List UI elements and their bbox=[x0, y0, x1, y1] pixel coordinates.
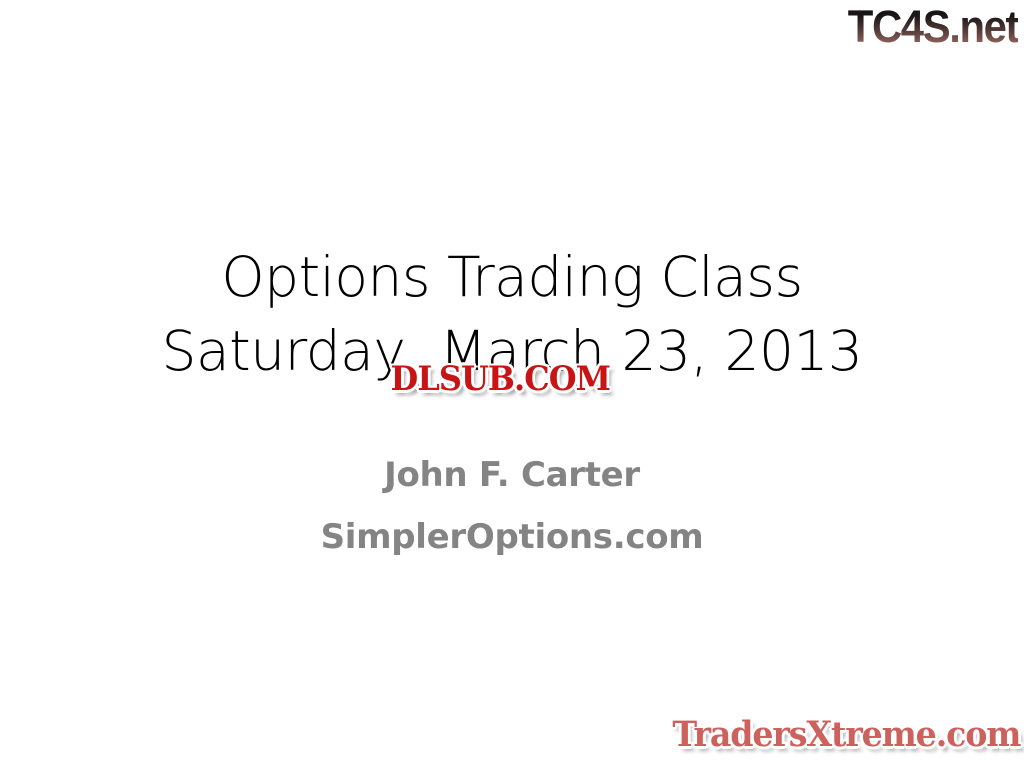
tradersxtreme-partner-logo[interactable]: TradersXtreme.com bbox=[672, 714, 1020, 756]
title-line-1: Options Trading Class bbox=[0, 240, 1024, 314]
dlsub-watermark: DLSUB.COM bbox=[364, 358, 637, 400]
tc4s-brand-logo[interactable]: TC4S.net bbox=[848, 2, 1018, 52]
subtitle-presenter-name: John F. Carter bbox=[0, 444, 1024, 506]
subtitle-website: SimplerOptions.com bbox=[0, 506, 1024, 568]
slide-subtitle: John F. Carter SimplerOptions.com bbox=[0, 444, 1024, 568]
presentation-slide: TC4S.net Options Trading Class Saturday,… bbox=[0, 0, 1024, 768]
